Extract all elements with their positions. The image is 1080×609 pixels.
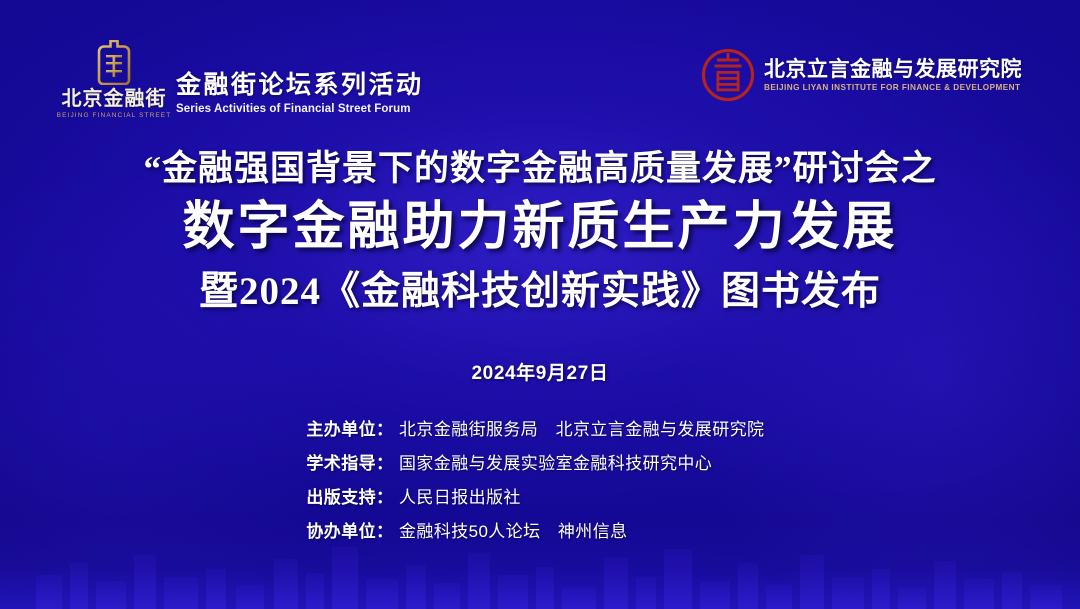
title-line-1: “金融强国背景下的数字金融高质量发展”研讨会之 [0, 148, 1080, 189]
financial-street-brand-cn: 北京金融街 [62, 88, 167, 110]
institute-name-cn: 北京立言金融与发展研究院 [764, 58, 1022, 81]
credit-value: 金融科技50人论坛 神州信息 [399, 517, 810, 542]
credit-row-publishing-support: 出版支持 ： 人民日报出版社 [270, 483, 810, 508]
event-poster: 北京金融街 BEIJING FINANCIAL STREET 金融街论坛系列活动… [0, 0, 1080, 609]
credit-label: 出版支持 [270, 483, 376, 508]
financial-street-gold-seal-icon [97, 40, 131, 85]
credit-colon: ： [376, 415, 399, 440]
forum-title-block: 金融街论坛系列活动 Series Activities of Financial… [176, 71, 424, 119]
event-date: 2024年9月27日 [0, 358, 1080, 385]
credit-row-organizer: 主办单位 ： 北京金融街服务局 北京立言金融与发展研究院 [270, 415, 810, 440]
financial-street-brand-en: BEIJING FINANCIAL STREET [57, 112, 172, 119]
logo-financial-street: 北京金融街 BEIJING FINANCIAL STREET 金融街论坛系列活动… [60, 40, 424, 119]
financial-street-mark: 北京金融街 BEIJING FINANCIAL STREET [60, 40, 168, 119]
credit-value: 国家金融与发展实验室金融科技研究中心 [399, 449, 810, 474]
forum-title-en: Series Activities of Financial Street Fo… [176, 103, 424, 115]
liyan-institute-text: 北京立言金融与发展研究院 BEIJING LIYAN INSTITUTE FOR… [764, 58, 1022, 92]
poster-header: 北京金融街 BEIJING FINANCIAL STREET 金融街论坛系列活动… [0, 0, 1080, 128]
credit-label: 学术指导 [270, 449, 376, 474]
credit-colon: ： [376, 517, 399, 542]
title-line-3: 暨2024《金融科技创新实践》图书发布 [0, 269, 1080, 314]
liyan-red-round-seal-icon [701, 48, 755, 102]
poster-titles: “金融强国背景下的数字金融高质量发展”研讨会之 数字金融助力新质生产力发展 暨2… [0, 148, 1080, 314]
credit-value: 人民日报出版社 [399, 483, 810, 508]
forum-title-cn: 金融街论坛系列活动 [176, 71, 424, 100]
credit-value: 北京金融街服务局 北京立言金融与发展研究院 [399, 415, 810, 440]
credit-colon: ： [376, 483, 399, 508]
title-line-2-main: 数字金融助力新质生产力发展 [0, 198, 1080, 258]
credit-row-co-organizer: 协办单位 ： 金融科技50人论坛 神州信息 [270, 517, 810, 542]
logo-liyan-institute: 北京立言金融与发展研究院 BEIJING LIYAN INSTITUTE FOR… [701, 48, 1022, 102]
credit-label: 协办单位 [270, 517, 376, 542]
credit-label: 主办单位 [270, 415, 376, 440]
institute-name-en: BEIJING LIYAN INSTITUTE FOR FINANCE & DE… [764, 83, 1022, 92]
credit-row-academic-guidance: 学术指导 ： 国家金融与发展实验室金融科技研究中心 [270, 449, 810, 474]
credit-colon: ： [376, 449, 399, 474]
credits-block: 主办单位 ： 北京金融街服务局 北京立言金融与发展研究院 学术指导 ： 国家金融… [0, 415, 1080, 551]
